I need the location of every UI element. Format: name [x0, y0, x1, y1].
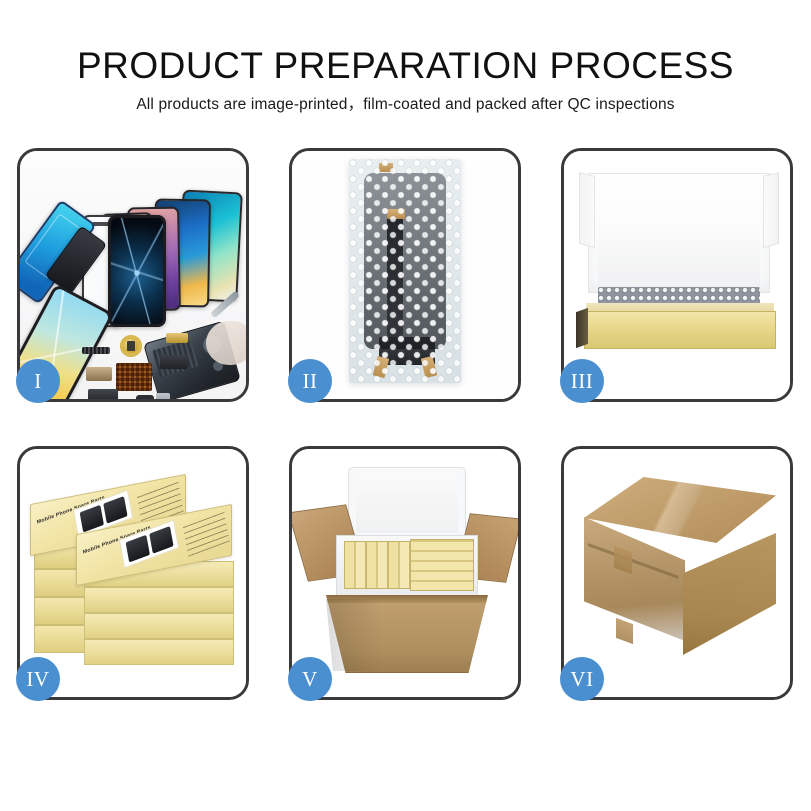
- step-2-image: [292, 151, 518, 399]
- gold-contact-part: [166, 333, 188, 343]
- page-title: PRODUCT PREPARATION PROCESS: [0, 44, 811, 88]
- step-panel-4: Mobile Phone Spare Parts Mobile Phone Sp…: [17, 446, 249, 700]
- carton-body-shading: [326, 599, 382, 671]
- camera-module-part: [136, 395, 154, 399]
- speaker-coil-part: [120, 335, 142, 357]
- page-subtitle: All products are image-printed，film-coat…: [0, 95, 811, 115]
- sealed-carton-left-shading: [584, 517, 685, 641]
- crack-pattern: [111, 218, 163, 324]
- hand-shape: [206, 321, 246, 365]
- sealed-carton-right-face: [683, 533, 776, 655]
- header: PRODUCT PREPARATION PROCESS All products…: [0, 44, 811, 115]
- copper-grid-part: [116, 363, 152, 391]
- step-badge-1: I: [16, 359, 60, 403]
- gold-box-stack: Mobile Phone Spare Parts Mobile Phone Sp…: [28, 475, 240, 675]
- step-3-image: [564, 151, 790, 399]
- step-badge-5: V: [288, 657, 332, 701]
- step-6-image: [564, 449, 790, 697]
- metal-bracket-part: [156, 393, 170, 399]
- battery-connector-part: [86, 367, 112, 381]
- styrofoam-lid: [348, 467, 466, 541]
- flex-cable-part-2: [88, 389, 118, 399]
- step-panel-5: V: [289, 446, 521, 700]
- step-badge-3: III: [560, 359, 604, 403]
- step-5-image: [292, 449, 518, 697]
- foam-sheet: [598, 213, 760, 287]
- step-panel-1: I: [17, 148, 249, 402]
- stacked-box-right-3: [84, 587, 234, 613]
- gold-box-front-panel: [584, 311, 776, 349]
- stacked-box-right-1: [84, 639, 234, 665]
- flex-cable-part-1: [82, 347, 110, 354]
- stacked-box-right-2: [84, 613, 234, 639]
- step-badge-4: IV: [16, 657, 60, 701]
- cracked-screen-phone: [108, 215, 166, 327]
- step-panel-3: III: [561, 148, 793, 402]
- step-badge-2: II: [288, 359, 332, 403]
- process-steps-grid: I II: [17, 148, 794, 740]
- gold-boxes-row-2: [410, 539, 474, 591]
- bubble-texture: [349, 159, 461, 383]
- step-badge-6: VI: [560, 657, 604, 701]
- step-4-image: Mobile Phone Spare Parts Mobile Phone Sp…: [20, 449, 246, 697]
- flex-cable-part-3: [160, 355, 188, 369]
- step-panel-6: VI: [561, 446, 793, 700]
- bubble-wrap-bag: [349, 159, 461, 383]
- carton-tab-lower: [616, 618, 633, 644]
- step-panel-2: II: [289, 148, 521, 402]
- box-spec-lines-front: [182, 509, 229, 557]
- step-1-image: [20, 151, 246, 399]
- product-preparation-process-page: PRODUCT PREPARATION PROCESS All products…: [0, 0, 811, 811]
